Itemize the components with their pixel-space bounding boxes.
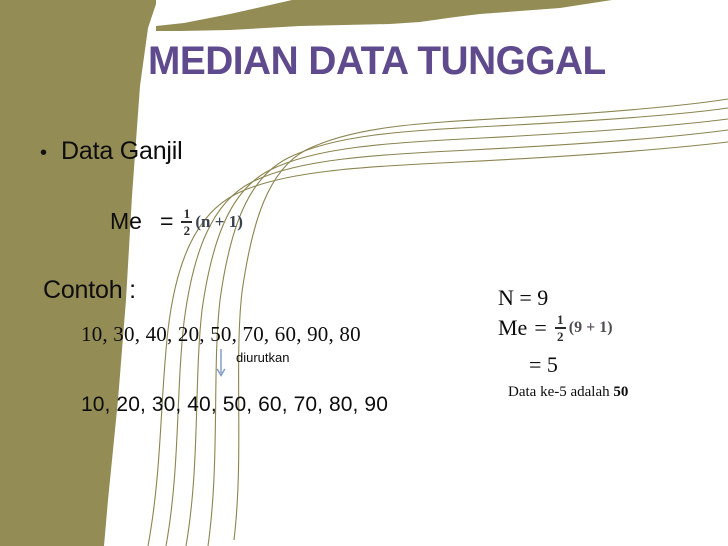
calc-fraction-denominator: 2 — [555, 329, 566, 343]
example-heading: Contoh : — [43, 276, 136, 305]
data-list-sorted: 10, 20, 30, 40, 50, 60, 70, 80, 90 — [81, 393, 388, 417]
fraction-numerator: 1 — [182, 207, 193, 221]
calc-me-label: Me — [498, 315, 527, 341]
flowing-curve-5 — [234, 99, 728, 540]
formula-equals-sign: = — [160, 208, 173, 235]
calc-median-formula: Me = 1 2 (9 + 1) — [498, 313, 613, 343]
calc-result: = 5 — [529, 352, 558, 378]
calc-conclusion-value: 50 — [613, 384, 628, 400]
formula-expression: (n + 1) — [195, 212, 242, 232]
bullet-item-data-ganjil: • Data Ganjil — [40, 137, 183, 166]
calc-equals-sign: = — [534, 315, 546, 341]
slide-canvas: MEDIAN DATA TUNGGAL • Data Ganjil Me = 1… — [0, 0, 728, 546]
calc-fraction-numerator: 1 — [555, 313, 566, 327]
data-list-unsorted: 10, 30, 40, 20, 50, 70, 60, 90, 80 — [81, 322, 361, 347]
fraction-denominator: 2 — [182, 223, 193, 237]
page-title: MEDIAN DATA TUNGGAL — [148, 41, 606, 81]
bullet-item-label: Data Ganjil — [61, 137, 182, 166]
formula-fraction-one-half: 1 2 — [181, 207, 192, 237]
sort-annotation-label: diurutkan — [236, 350, 289, 365]
calc-expression: (9 + 1) — [569, 319, 613, 337]
calc-n-value: N = 9 — [498, 285, 548, 311]
olive-left-block — [0, 0, 156, 546]
calc-fraction-one-half: 1 2 — [555, 313, 566, 343]
calc-conclusion: Data ke-5 adalah 50 — [508, 384, 628, 401]
calc-conclusion-prefix: Data ke-5 adalah — [508, 384, 613, 400]
formula-lhs: Me — [110, 208, 142, 235]
sort-annotation: diurutkan — [215, 349, 289, 379]
down-arrow-icon — [215, 349, 227, 379]
median-formula: Me = 1 2 (n + 1) — [110, 207, 243, 237]
bullet-marker-icon: • — [40, 143, 47, 163]
